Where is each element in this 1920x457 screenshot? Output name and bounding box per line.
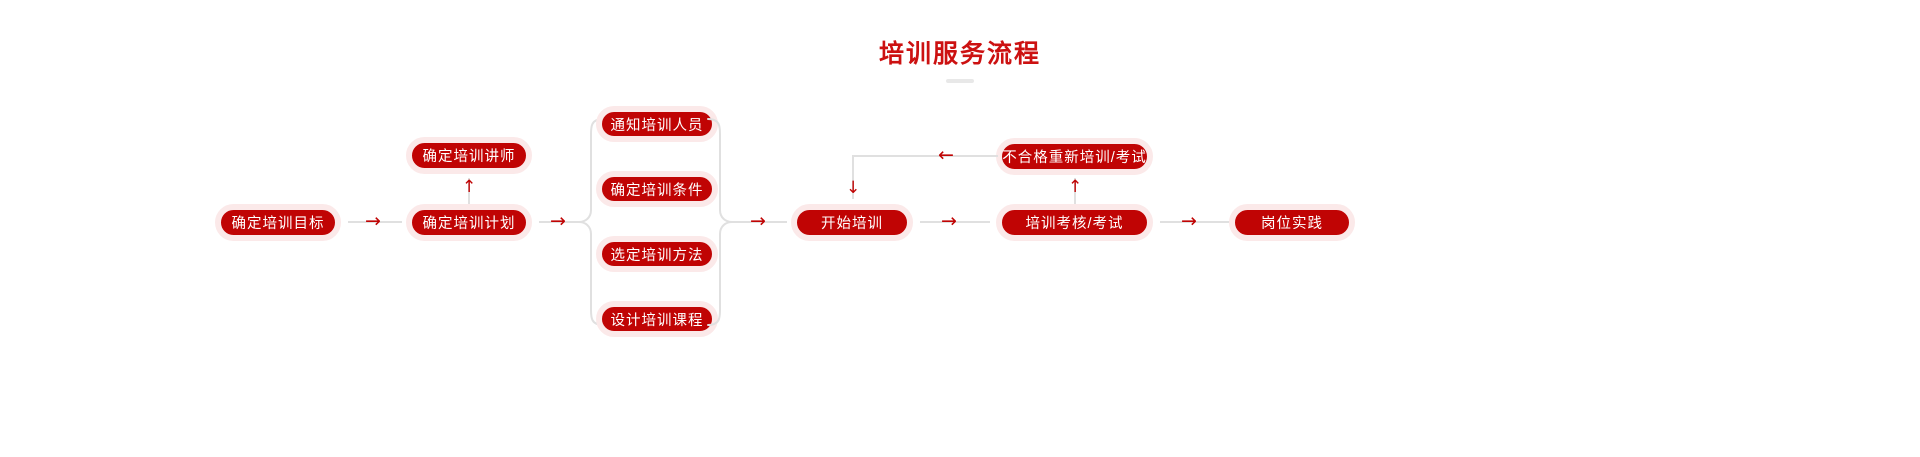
- connector-retry-loop-horizontal: [852, 155, 998, 157]
- arrow-right-goal-plan: →: [365, 212, 381, 231]
- arrow-right-start-exam: →: [941, 212, 957, 231]
- node-select-training-method[interactable]: 选定培训方法: [596, 236, 718, 272]
- arrow-left-retry-loop: ←: [938, 146, 954, 165]
- node-design-training-course[interactable]: 设计培训课程: [596, 301, 718, 337]
- page-title: 培训服务流程: [0, 38, 1920, 70]
- node-determine-training-plan[interactable]: 确定培训计划: [406, 204, 532, 241]
- node-training-assessment-exam[interactable]: 培训考核/考试: [996, 204, 1153, 241]
- arrow-down-retry-loop: ↓: [846, 180, 860, 197]
- group-brace-left: [578, 118, 604, 326]
- node-determine-training-goal[interactable]: 确定培训目标: [215, 204, 341, 241]
- node-notify-trainees[interactable]: 通知培训人员: [596, 106, 718, 142]
- arrow-right-plan-group: →: [550, 212, 566, 231]
- arrow-up-exam-retry: ↑: [1068, 179, 1082, 196]
- title-divider: [946, 79, 974, 83]
- node-determine-trainer[interactable]: 确定培训讲师: [406, 137, 532, 174]
- arrow-right-exam-practice: →: [1181, 212, 1197, 231]
- group-brace-right: [707, 118, 733, 326]
- node-determine-training-conditions[interactable]: 确定培训条件: [596, 171, 718, 207]
- node-on-the-job-practice[interactable]: 岗位实践: [1229, 204, 1355, 241]
- title-block: 培训服务流程: [0, 38, 1920, 83]
- node-start-training[interactable]: 开始培训: [791, 204, 913, 241]
- flowchart-canvas: 培训服务流程 确定培训目标 → 确定培训计划 确定培训讲师 ↑ → 通知培训人员…: [0, 0, 1920, 457]
- node-retrain-retest-on-fail[interactable]: 不合格重新培训/考试: [996, 138, 1153, 175]
- arrow-right-group-start: →: [750, 212, 766, 231]
- arrow-up-plan-trainer: ↑: [462, 179, 476, 196]
